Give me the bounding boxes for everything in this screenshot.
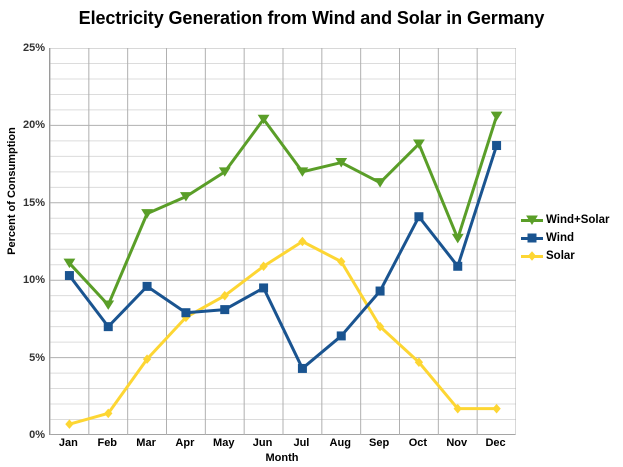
series-wind <box>65 142 500 373</box>
legend-swatch-icon <box>521 232 543 244</box>
data-point-marker <box>527 216 537 224</box>
data-point-marker <box>375 179 385 187</box>
data-point-marker <box>493 405 500 413</box>
y-tick-label: 20% <box>1 119 45 131</box>
data-point-marker <box>528 234 536 242</box>
data-point-marker <box>182 309 190 317</box>
data-point-marker <box>492 112 502 120</box>
legend-item-wind[interactable]: Wind <box>521 230 621 246</box>
data-point-marker <box>66 420 73 428</box>
data-point-marker <box>104 323 112 331</box>
legend-swatch-icon <box>521 250 543 262</box>
series-wind-solar <box>64 112 501 309</box>
legend-label: Solar <box>546 250 575 262</box>
data-point-marker <box>260 284 268 292</box>
y-tick-label: 15% <box>1 197 45 209</box>
x-tick-label-dec: Dec <box>466 437 526 449</box>
chart-container: Electricity Generation from Wind and Sol… <box>0 0 623 467</box>
plot-area <box>49 48 515 435</box>
data-point-marker <box>337 332 345 340</box>
data-point-marker <box>453 234 463 242</box>
legend-label: Wind <box>546 232 574 244</box>
legend-swatch-icon <box>521 214 543 226</box>
chart-legend: Wind+SolarWindSolar <box>521 212 621 266</box>
y-tick-label: 25% <box>1 42 45 54</box>
series-line <box>69 242 496 425</box>
data-point-marker <box>529 252 536 260</box>
legend-item-wind-solar[interactable]: Wind+Solar <box>521 212 621 228</box>
data-series-layer <box>50 48 516 435</box>
legend-item-solar[interactable]: Solar <box>521 248 621 264</box>
data-point-marker <box>415 213 423 221</box>
data-point-marker <box>103 301 113 309</box>
series-solar <box>66 238 500 429</box>
data-point-marker <box>493 142 501 150</box>
chart-title: Electricity Generation from Wind and Sol… <box>0 8 623 29</box>
data-point-marker <box>143 282 151 290</box>
y-tick-label: 5% <box>1 352 45 364</box>
data-point-marker <box>221 306 229 314</box>
legend-label: Wind+Solar <box>546 214 609 226</box>
data-point-marker <box>298 364 306 372</box>
x-axis-title: Month <box>49 452 515 464</box>
data-point-marker <box>454 262 462 270</box>
data-point-marker <box>65 272 73 280</box>
data-point-marker <box>376 287 384 295</box>
series-line <box>69 116 496 305</box>
y-axis-tick-labels: 0%5%10%15%20%25% <box>0 48 45 435</box>
y-tick-label: 10% <box>1 274 45 286</box>
